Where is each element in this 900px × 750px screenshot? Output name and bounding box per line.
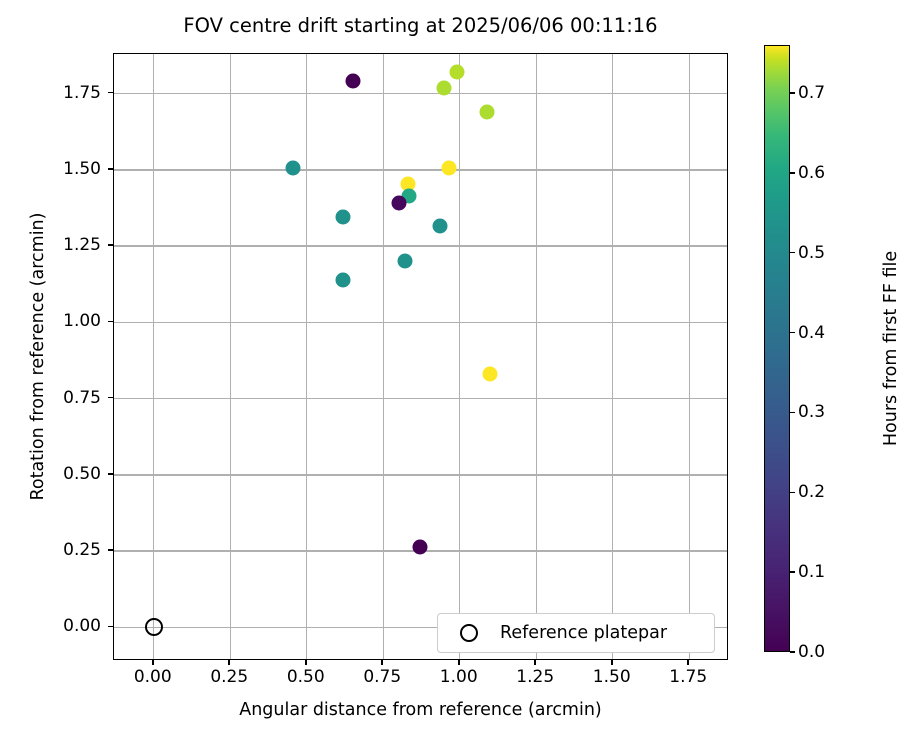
colorbar-tick-label: 0.3	[798, 402, 825, 422]
plot-area	[114, 54, 727, 659]
y-tick-label: 1.00	[63, 311, 101, 331]
y-tick-mark	[108, 168, 113, 170]
x-tick-mark	[228, 660, 230, 665]
scatter-point	[432, 219, 447, 234]
legend-box: Reference platepar	[437, 613, 715, 653]
colorbar-tick-label: 0.0	[798, 642, 825, 662]
gridline-vertical	[689, 54, 690, 659]
colorbar-tick-mark	[790, 651, 795, 653]
gridline-horizontal	[114, 169, 727, 170]
y-tick-label: 0.00	[63, 616, 101, 636]
y-tick-mark	[108, 626, 113, 628]
colorbar-label: Hours from first FF file	[881, 45, 900, 652]
figure-canvas: FOV centre drift starting at 2025/06/06 …	[0, 0, 900, 750]
x-tick-label: 1.00	[440, 667, 478, 687]
scatter-point	[391, 196, 406, 211]
scatter-point	[442, 161, 457, 176]
reference-platepar-circle-icon	[460, 624, 478, 642]
colorbar-tick-label: 0.7	[798, 83, 825, 103]
reference-platepar-marker	[145, 618, 163, 636]
colorbar-tick-mark	[790, 571, 795, 573]
gridline-horizontal	[114, 93, 727, 94]
x-tick-mark	[534, 660, 536, 665]
scatter-point	[336, 210, 351, 225]
x-tick-label: 0.75	[363, 667, 401, 687]
y-tick-label: 0.25	[63, 540, 101, 560]
scatter-point	[412, 539, 427, 554]
colorbar-tick-mark	[790, 332, 795, 334]
gridline-vertical	[153, 54, 154, 659]
colorbar-tick-label: 0.2	[798, 482, 825, 502]
scatter-point	[449, 65, 464, 80]
gridline-horizontal	[114, 398, 727, 399]
y-tick-mark	[108, 549, 113, 551]
y-tick-mark	[108, 244, 113, 246]
scatter-point	[480, 104, 495, 119]
gridline-vertical	[383, 54, 384, 659]
colorbar-tick-label: 0.4	[798, 323, 825, 343]
gridline-horizontal	[114, 245, 727, 246]
x-tick-label: 1.75	[669, 667, 707, 687]
gridline-vertical	[306, 54, 307, 659]
y-tick-mark	[108, 397, 113, 399]
colorbar-tick-mark	[790, 492, 795, 494]
colorbar-tick-label: 0.5	[798, 243, 825, 263]
colorbar-gradient	[764, 45, 790, 652]
gridline-vertical	[230, 54, 231, 659]
x-tick-label: 1.50	[593, 667, 631, 687]
x-tick-mark	[152, 660, 154, 665]
x-tick-label: 1.25	[516, 667, 554, 687]
x-tick-label: 0.25	[210, 667, 248, 687]
colorbar-tick-mark	[790, 92, 795, 94]
x-tick-mark	[381, 660, 383, 665]
colorbar-tick-mark	[790, 412, 795, 414]
scatter-point	[336, 272, 351, 287]
scatter-point	[345, 74, 360, 89]
scatter-point	[397, 254, 412, 269]
gridline-vertical	[612, 54, 613, 659]
gridline-horizontal	[114, 474, 727, 475]
scatter-point	[285, 161, 300, 176]
x-tick-mark	[687, 660, 689, 665]
x-tick-label: 0.50	[287, 667, 325, 687]
y-axis-label: Rotation from reference (arcmin)	[28, 53, 56, 660]
colorbar-tick-label: 0.1	[798, 562, 825, 582]
y-tick-label: 1.25	[63, 235, 101, 255]
y-tick-label: 1.75	[63, 83, 101, 103]
legend-marker-wrap	[438, 624, 500, 642]
x-tick-mark	[458, 660, 460, 665]
x-tick-mark	[305, 660, 307, 665]
colorbar-tick-mark	[790, 252, 795, 254]
gridline-horizontal	[114, 322, 727, 323]
gridline-vertical	[536, 54, 537, 659]
y-tick-label: 0.50	[63, 464, 101, 484]
y-tick-label: 1.50	[63, 159, 101, 179]
x-tick-mark	[611, 660, 613, 665]
chart-title: FOV centre drift starting at 2025/06/06 …	[113, 14, 728, 37]
scatter-point	[483, 367, 498, 382]
x-axis-label: Angular distance from reference (arcmin)	[113, 700, 728, 720]
y-tick-label: 0.75	[63, 388, 101, 408]
legend-entry-label: Reference platepar	[500, 623, 667, 643]
plot-axes-frame	[113, 53, 728, 660]
y-tick-mark	[108, 321, 113, 323]
gridline-vertical	[459, 54, 460, 659]
colorbar-tick-label: 0.6	[798, 163, 825, 183]
x-tick-label: 0.00	[134, 667, 172, 687]
colorbar-tick-mark	[790, 172, 795, 174]
y-tick-mark	[108, 92, 113, 94]
scatter-point	[437, 80, 452, 95]
y-tick-mark	[108, 473, 113, 475]
